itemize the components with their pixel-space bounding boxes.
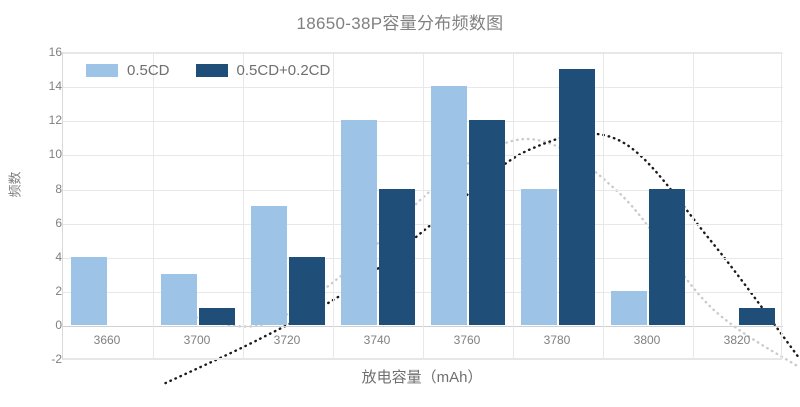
- gridline-vertical: [513, 53, 514, 326]
- bar: [161, 274, 197, 325]
- x-axis-tick-label: 3760: [454, 333, 481, 347]
- x-axis: 36603700372037403760378038003820: [62, 333, 782, 353]
- legend-swatch-icon: [86, 64, 118, 77]
- bar: [341, 120, 377, 325]
- bar: [251, 206, 287, 325]
- legend-label: 0.5CD+0.2CD: [237, 62, 331, 79]
- x-axis-title: 放电容量（mAh）: [62, 366, 782, 387]
- x-axis-tick-label: 3780: [544, 333, 571, 347]
- bar: [199, 308, 235, 325]
- legend-item-0-5cd[interactable]: 0.5CD: [86, 62, 170, 79]
- bar: [379, 189, 415, 326]
- x-axis-tick-label: 3820: [724, 333, 751, 347]
- gridline-vertical: [153, 53, 154, 326]
- bar: [289, 257, 325, 325]
- y-axis-tick-label: 14: [16, 79, 62, 93]
- bar: [649, 189, 685, 326]
- bar: [469, 120, 505, 325]
- legend-label: 0.5CD: [127, 62, 170, 79]
- legend-swatch-icon: [196, 64, 228, 77]
- y-axis-tick-label: 16: [16, 45, 62, 59]
- bar: [521, 189, 557, 326]
- plot-area: [62, 52, 782, 325]
- y-axis-tick-label: 8: [16, 182, 62, 196]
- bar: [559, 69, 595, 325]
- bar: [611, 291, 647, 325]
- x-axis-tick-label: 3700: [184, 333, 211, 347]
- gridline-vertical: [243, 53, 244, 326]
- y-axis-tick-label: 10: [16, 147, 62, 161]
- y-axis: 频数 1614121086420-2: [0, 0, 62, 407]
- gridline-vertical: [333, 53, 334, 326]
- y-axis-tick-label: 12: [16, 113, 62, 127]
- frequency-distribution-chart: 18650-38P容量分布频数图 频数 1614121086420-2 3660…: [0, 0, 800, 407]
- gridline-vertical: [693, 53, 694, 326]
- y-axis-tick-label: 2: [16, 284, 62, 298]
- bar: [71, 257, 107, 325]
- gridline-vertical: [603, 53, 604, 326]
- bar: [739, 308, 775, 325]
- y-axis-tick-label: 0: [16, 318, 62, 332]
- x-axis-tick-label: 3720: [274, 333, 301, 347]
- bar: [431, 86, 467, 325]
- y-axis-tick-label: 4: [16, 250, 62, 264]
- gridline-vertical: [423, 53, 424, 326]
- x-axis-tick-label: 3660: [94, 333, 121, 347]
- x-axis-tick-label: 3740: [364, 333, 391, 347]
- x-axis-tick-label: 3800: [634, 333, 661, 347]
- y-axis-tick-label: 6: [16, 216, 62, 230]
- chart-legend: 0.5CD 0.5CD+0.2CD: [86, 62, 330, 79]
- legend-item-0-5cd-plus-0-2cd[interactable]: 0.5CD+0.2CD: [196, 62, 331, 79]
- y-axis-tick-label: -2: [16, 352, 62, 366]
- chart-title: 18650-38P容量分布频数图: [0, 9, 800, 34]
